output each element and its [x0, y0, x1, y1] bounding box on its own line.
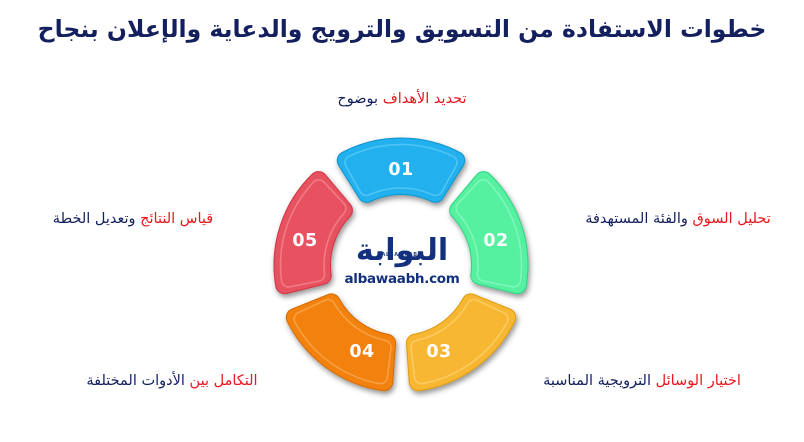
callout-01-highlight: تحديد الأهداف [383, 91, 467, 107]
callout-04-rest: الأدوات المختلفة [86, 373, 189, 389]
callout-04-highlight: التكامل بين [190, 373, 258, 389]
callout-label-03: اختيار الوسائل الترويجية المناسبة [492, 370, 792, 392]
infographic-root: خطوات الاستفادة من التسويق والترويج والد… [0, 0, 804, 442]
callout-label-02: تحليل السوق والفئة المستهدفة [566, 208, 790, 230]
callout-02-highlight: تحليل السوق [693, 211, 771, 227]
logo-arabic-text: البوابة [356, 233, 448, 268]
donut-segment-number-02: 02 [483, 231, 508, 251]
callout-label-05: قياس النتائج وتعديل الخطة [12, 208, 254, 230]
callout-03-highlight: اختيار الوسائل [656, 373, 741, 389]
logo-url: albawaabh.com [330, 273, 474, 287]
callout-01-rest: بوضوح [337, 91, 382, 107]
donut-segment-number-05: 05 [292, 231, 317, 251]
brand-logo: البوابة ALBAWAABH albawaabh.com [330, 236, 474, 287]
callout-05-rest: وتعديل الخطة [53, 211, 140, 227]
donut-segment-number-01: 01 [388, 160, 413, 180]
logo-inner-mark: ALBAWAABH [330, 253, 474, 258]
donut-segment-number-04: 04 [349, 342, 374, 362]
callout-05-highlight: قياس النتائج [140, 211, 213, 227]
callout-02-rest: والفئة المستهدفة [585, 211, 692, 227]
callout-03-rest: الترويجية المناسبة [543, 373, 656, 389]
donut-segment-number-03: 03 [426, 342, 451, 362]
callout-label-01: تحديد الأهداف بوضوح [252, 88, 552, 110]
logo-arabic-wordmark: البوابة ALBAWAABH [330, 236, 474, 270]
page-title: خطوات الاستفادة من التسويق والترويج والد… [0, 14, 804, 46]
callout-label-04: التكامل بين الأدوات المختلفة [22, 370, 322, 392]
